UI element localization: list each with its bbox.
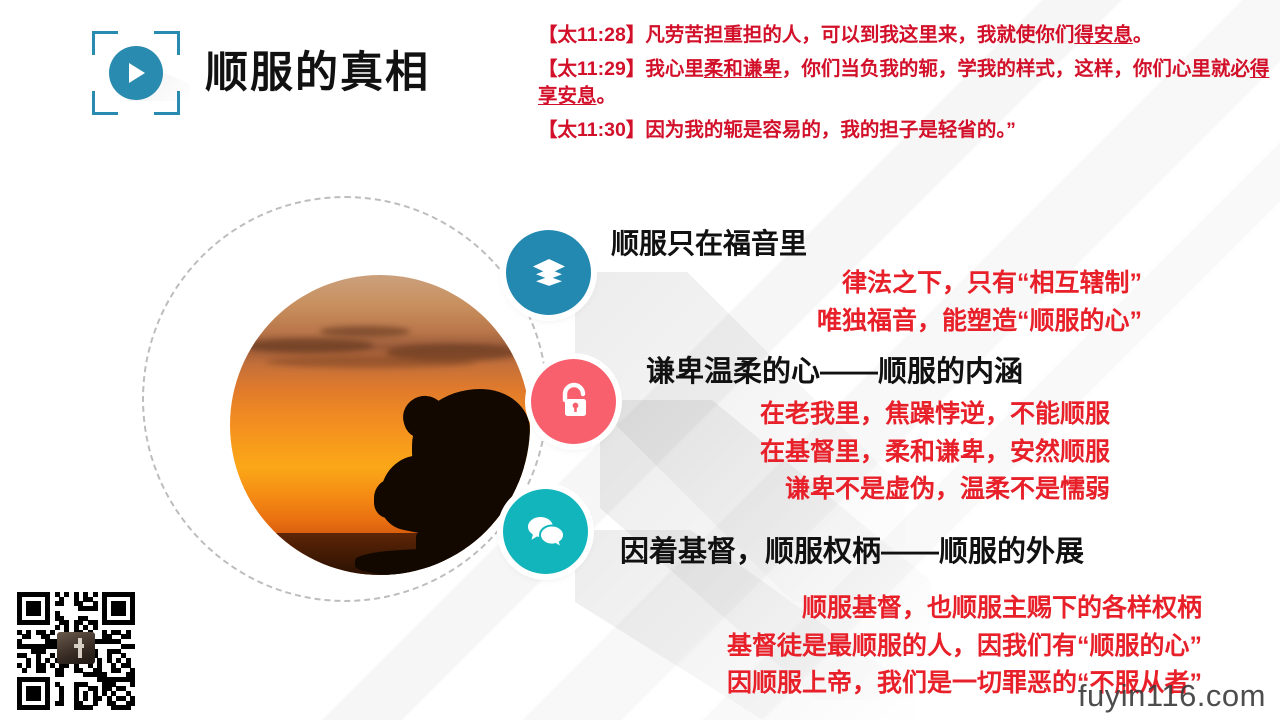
section-bullets-1: 律法之下，只有“相互辖制”唯独福音，能塑造“顺服的心”	[500, 265, 1180, 340]
scripture-reference: 【太11:28】	[538, 24, 645, 46]
bullet-line: 唯独福音，能塑造“顺服的心”	[500, 303, 1180, 341]
section-heading-1: 顺服只在福音里	[611, 222, 807, 262]
section-heading-3: 因着基督，顺服权柄——顺服的外展	[620, 528, 1084, 570]
scripture-emphasis: 得安息	[1074, 24, 1133, 46]
scripture-verse: 【太11:30】因为我的轭是容易的，我的担子是轻省的。”	[538, 117, 1270, 145]
play-button-icon	[109, 46, 163, 100]
scripture-reference: 【太11:30】	[538, 119, 645, 141]
slide-canvas: 顺服的真相 【太11:28】凡劳苦担重担的人，可以到我这里来，我就使你们得安息。…	[0, 0, 1280, 720]
scripture-emphasis: 柔和谦卑	[704, 58, 782, 80]
bullet-line: 基督徒是最顺服的人，因我们有“顺服的心”	[300, 628, 1220, 666]
page-title: 顺服的真相	[205, 38, 430, 100]
cross-logo	[57, 632, 95, 664]
scripture-reference: 【太11:29】	[538, 58, 645, 80]
bullet-line: 在老我里，焦躁悖逆，不能顺服	[420, 396, 1150, 434]
scripture-verse: 【太11:29】我心里柔和谦卑，你们当负我的轭，学我的样式，这样，你们心里就必得…	[538, 56, 1270, 111]
scripture-block: 【太11:28】凡劳苦担重担的人，可以到我这里来，我就使你们得安息。【太11:2…	[538, 22, 1270, 151]
scripture-verse: 【太11:28】凡劳苦担重担的人，可以到我这里来，我就使你们得安息。	[538, 22, 1270, 50]
section-heading-2: 谦卑温柔的心——顺服的内涵	[646, 348, 1023, 390]
scripture-text: 。	[1133, 24, 1153, 46]
section-bullets-2: 在老我里，焦躁悖逆，不能顺服在基督里，柔和谦卑，安然顺服谦卑不是虚伪，温柔不是懦…	[420, 396, 1150, 509]
scripture-text: 我心里	[645, 58, 704, 80]
scripture-text: 因为我的轭是容易的，我的担子是轻省的。”	[645, 119, 1016, 141]
bullet-line: 在基督里，柔和谦卑，安然顺服	[420, 434, 1150, 472]
qr-code[interactable]	[17, 592, 135, 710]
bullet-line: 律法之下，只有“相互辖制”	[500, 265, 1180, 303]
scripture-text: 凡劳苦担重担的人，可以到我这里来，我就使你们	[645, 24, 1074, 46]
scripture-text: 。	[597, 85, 617, 107]
site-watermark: fuyin116.com	[1078, 678, 1266, 714]
logo-frame	[92, 31, 180, 115]
scripture-text: ，你们当负我的轭，学我的样式，这样，你们心里就必	[782, 58, 1250, 80]
bullet-line: 谦卑不是虚伪，温柔不是懦弱	[420, 471, 1150, 509]
bullet-line: 顺服基督，也顺服主赐下的各样权柄	[300, 590, 1220, 628]
